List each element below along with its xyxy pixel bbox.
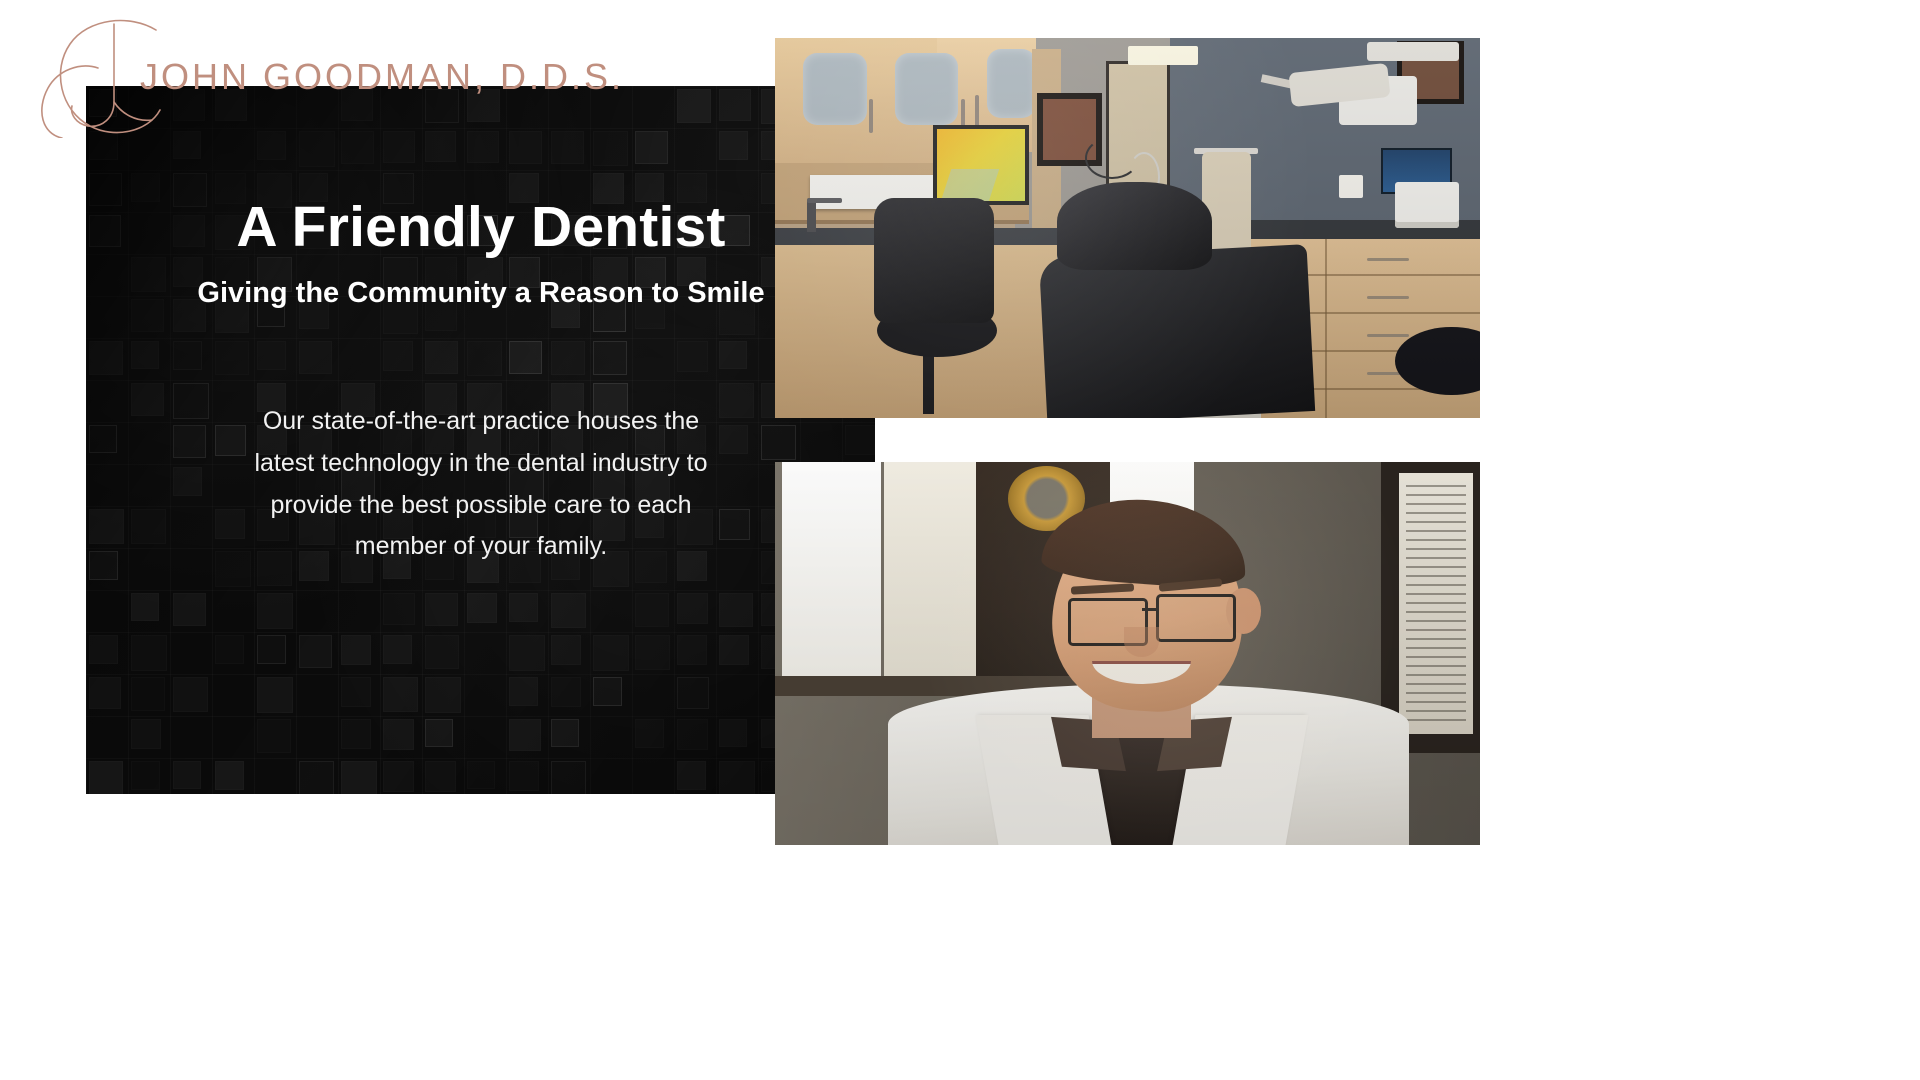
cabinet-handle xyxy=(961,99,965,133)
eyeglasses-bridge xyxy=(1142,608,1158,611)
counter-equipment xyxy=(1395,182,1458,228)
hero-content: A Friendly Dentist Giving the Community … xyxy=(86,86,876,794)
cabinet-glass-panel xyxy=(803,53,866,125)
brand-wordmark: JOHN GOODMAN, D.D.S. xyxy=(140,56,624,98)
drawer-seam xyxy=(1325,239,1327,418)
hero-panel: A Friendly Dentist Giving the Community … xyxy=(86,86,876,794)
page-title: A Friendly Dentist xyxy=(86,198,876,258)
eyeglasses-lens xyxy=(1156,594,1236,642)
hero-body-text: Our state-of-the-art practice houses the… xyxy=(236,401,726,568)
slide-canvas: JOHN GOODMAN, D.D.S. A Friendly Dentist … xyxy=(0,0,1920,1080)
stool-post xyxy=(923,350,934,415)
ceiling-light xyxy=(1128,46,1199,65)
stool-backrest xyxy=(874,198,994,323)
photo-separator xyxy=(875,418,1480,462)
wall-outlet xyxy=(1339,175,1363,198)
patient-chair-headrest xyxy=(1057,182,1212,269)
cabinet-glass-panel xyxy=(895,53,958,125)
operatory-monitor xyxy=(937,129,1025,201)
page-subtitle: Giving the Community a Reason to Smile xyxy=(181,272,781,314)
brand-logo[interactable]: JOHN GOODMAN, D.D.S. xyxy=(0,8,680,138)
drawer-pull xyxy=(1367,258,1409,261)
framed-document-text xyxy=(1406,485,1466,722)
sink-faucet-spout xyxy=(807,198,842,203)
operatory-photo xyxy=(775,38,1480,418)
cabinet-handle xyxy=(869,99,873,133)
cabinet-handle xyxy=(975,95,979,129)
cabinet-glass-panel xyxy=(987,49,1036,117)
drawer-pull xyxy=(1367,296,1409,299)
background-window xyxy=(782,462,881,692)
background-window xyxy=(884,462,976,684)
dentist-portrait-photo xyxy=(775,462,1480,845)
patient-chair xyxy=(1039,244,1315,418)
drawer-pull xyxy=(1367,334,1409,337)
xray-arm xyxy=(1367,42,1459,61)
